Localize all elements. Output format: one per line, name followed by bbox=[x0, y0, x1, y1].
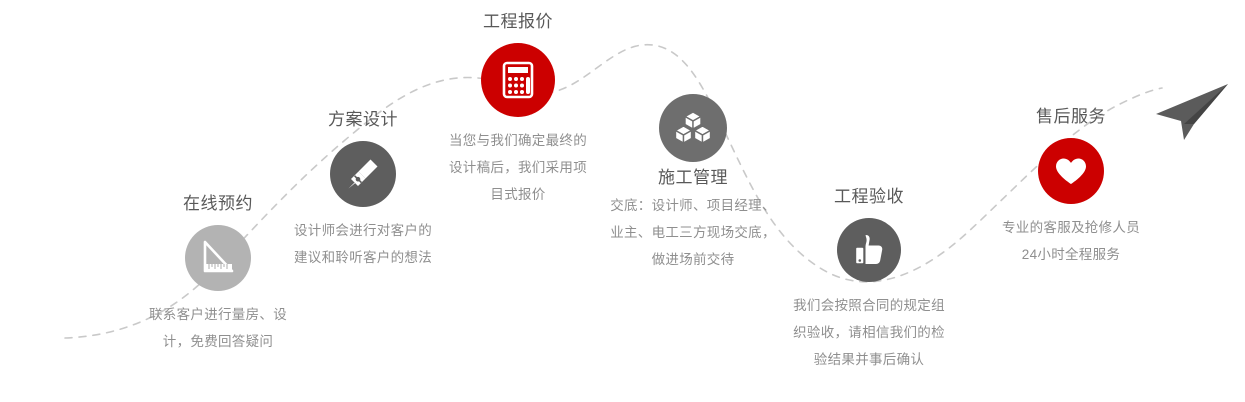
fountain-pen-icon bbox=[344, 155, 382, 193]
step-4-icon-circle[interactable] bbox=[659, 94, 727, 162]
ruler-triangle-icon bbox=[198, 238, 238, 278]
step-2-description: 设计师会进行对客户的建议和聆听客户的想法 bbox=[289, 217, 437, 271]
heart-icon bbox=[1052, 152, 1090, 190]
step-2-title: 方案设计 bbox=[289, 108, 437, 132]
process-flow-diagram: 在线预约 联系客户进行量房、设计，免费 bbox=[0, 0, 1245, 402]
step-3-description: 当您与我们确定最终的设计稿后，我们采用项目式报价 bbox=[443, 127, 593, 208]
flow-step-4[interactable]: 施工管理 交底：设计师、项目经理、业主、电工三方现场交底，做进场前交待 bbox=[608, 94, 778, 273]
step-1-icon-circle[interactable] bbox=[185, 225, 251, 291]
step-4-title: 施工管理 bbox=[608, 166, 778, 190]
step-1-title: 在线预约 bbox=[143, 192, 293, 216]
thumbs-up-icon bbox=[850, 231, 888, 269]
paper-plane-icon bbox=[1150, 82, 1234, 147]
flow-step-6[interactable]: 售后服务 专业的客服及抢修人员24小时全程服务 bbox=[996, 105, 1146, 268]
calculator-icon bbox=[497, 59, 539, 101]
step-6-title: 售后服务 bbox=[996, 105, 1146, 129]
step-1-description: 联系客户进行量房、设计，免费回答疑问 bbox=[143, 301, 293, 355]
step-3-title: 工程报价 bbox=[443, 10, 593, 34]
step-6-description: 专业的客服及抢修人员24小时全程服务 bbox=[996, 214, 1146, 268]
flow-step-5[interactable]: 工程验收 我们会按照合同的规定组织验收，请相信我们的检验结果并事后确认 bbox=[790, 185, 948, 373]
flow-step-1[interactable]: 在线预约 联系客户进行量房、设计，免费 bbox=[143, 192, 293, 355]
step-4-description: 交底：设计师、项目经理、业主、电工三方现场交底，做进场前交待 bbox=[608, 192, 778, 273]
step-6-icon-circle[interactable] bbox=[1038, 138, 1104, 204]
step-3-icon-circle[interactable] bbox=[481, 43, 555, 117]
flow-step-3[interactable]: 工程报价 当您与我们确定最终的设计稿后 bbox=[443, 10, 593, 208]
step-5-description: 我们会按照合同的规定组织验收，请相信我们的检验结果并事后确认 bbox=[790, 292, 948, 373]
step-2-icon-circle[interactable] bbox=[330, 141, 396, 207]
cubes-icon bbox=[672, 107, 714, 149]
flow-step-2[interactable]: 方案设计 设计师会进行对客户的建议和聆听客户的想法 bbox=[289, 108, 437, 271]
step-5-title: 工程验收 bbox=[790, 185, 948, 209]
step-5-icon-circle[interactable] bbox=[837, 218, 901, 282]
